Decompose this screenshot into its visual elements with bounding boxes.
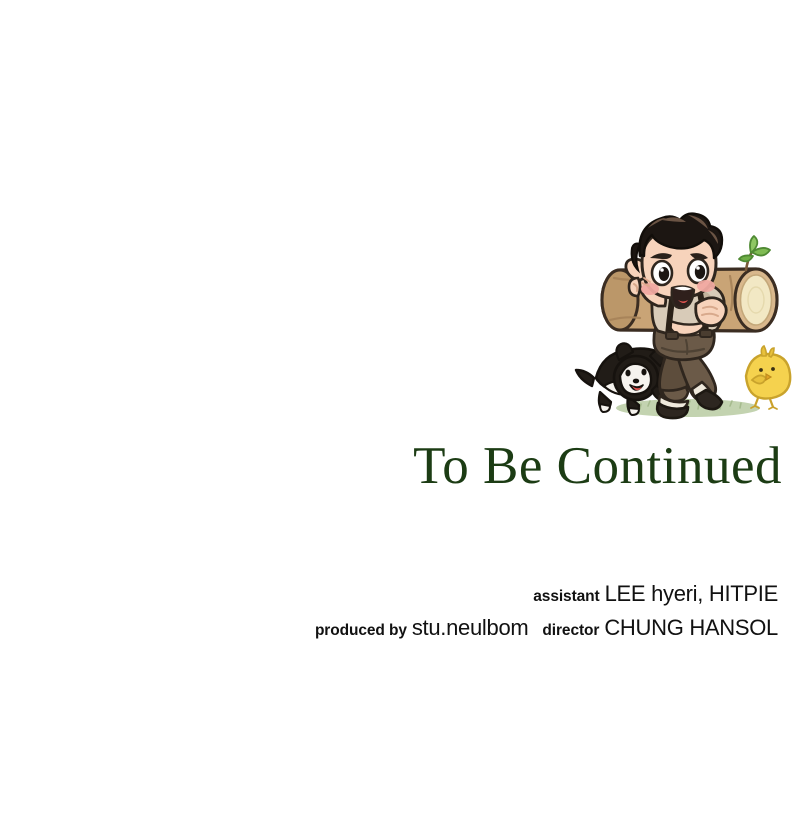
log-leaf-sprig xyxy=(739,236,770,270)
credit-name-value: CHUNG HANSOL xyxy=(604,615,778,640)
to-be-continued-block: To Be Continued xyxy=(0,440,782,493)
running-boy-illustration xyxy=(570,200,800,430)
credit-name-value: stu.neulbom xyxy=(412,615,529,640)
credit-role-label: assistant xyxy=(533,588,599,605)
credits-block: assistantLEE hyeri, HITPIE produced byst… xyxy=(0,578,778,646)
credit-name-value: LEE hyeri, HITPIE xyxy=(605,581,778,606)
credit-role-label: produced by xyxy=(315,622,407,639)
credit-entry-assistant: assistantLEE hyeri, HITPIE xyxy=(533,578,778,612)
to-be-continued-text: To Be Continued xyxy=(413,440,782,493)
credit-entry-director: directorCHUNG HANSOL xyxy=(542,612,778,646)
credit-line: produced bystu.neulbom directorCHUNG HAN… xyxy=(0,612,778,646)
credit-role-label: director xyxy=(542,622,599,639)
credit-line: assistantLEE hyeri, HITPIE xyxy=(0,578,778,612)
chick xyxy=(746,346,790,409)
credit-entry-produced-by: produced bystu.neulbom xyxy=(315,612,528,646)
endcard-page: To Be Continued assistantLEE hyeri, HITP… xyxy=(0,0,800,827)
